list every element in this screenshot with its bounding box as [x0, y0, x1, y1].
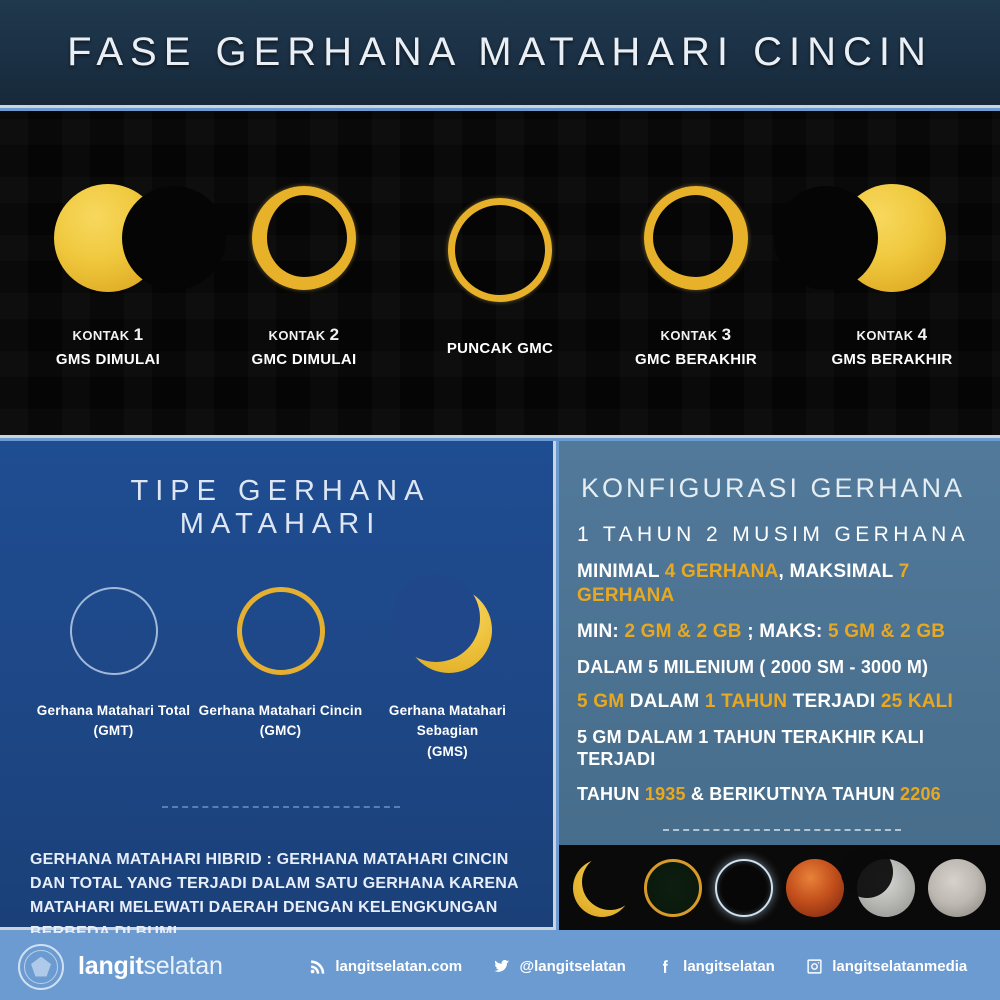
total-corona-photo	[715, 859, 773, 917]
social-instagram[interactable]: langitselatanmedia	[804, 957, 967, 977]
eclipse-phases-section: KONTAK 1 GMS DIMULAI KONTAK 2 GMC DIMULA…	[0, 111, 1000, 438]
social-twitter[interactable]: @langitselatan	[491, 957, 625, 977]
gold-value: 2 GM & 2 GB	[624, 621, 741, 642]
gold-value: 5 GM	[577, 691, 624, 712]
text-part: TAHUN	[577, 784, 645, 804]
phase-item: KONTAK 1 GMS DIMULAI	[16, 178, 201, 370]
phase-sublabel: GMC DIMULAI	[252, 350, 357, 370]
type-abbr: (GMS)	[427, 744, 468, 759]
phase-kontak-label: KONTAK	[269, 328, 326, 343]
full-moon-photo	[928, 859, 986, 917]
social-website[interactable]: langitselatan.com	[307, 957, 462, 977]
type-name: Gerhana Matahari Cincin	[199, 703, 363, 718]
eclipse-types-panel: TIPE GERHANA MATAHARI Gerhana Matahari T…	[0, 441, 556, 930]
ring-offset-left-icon	[244, 178, 364, 298]
header-banner: FASE GERHANA MATAHARI CINCIN	[0, 0, 1000, 108]
config-line-min-max-eclipses: MINIMAL 4 GERHANA, MAKSIMAL 7 GERHANA	[577, 560, 986, 608]
type-name: Gerhana Matahari Total	[37, 703, 190, 718]
annular-crescent-photo	[573, 859, 631, 917]
phase-kontak-label: KONTAK	[661, 328, 718, 343]
text-part: ; MAKS:	[742, 621, 828, 642]
type-name: Gerhana Matahari Sebagian	[389, 703, 506, 738]
rss-icon	[307, 957, 327, 977]
instagram-icon	[804, 957, 824, 977]
config-line-5gm-frequency: 5 GM DALAM 1 TAHUN TERJADI 25 KALI	[577, 690, 986, 714]
config-line-min-max-types: MIN: 2 GM & 2 GB ; MAKS: 5 GM & 2 GB	[577, 620, 986, 644]
config-line-millennium: DALAM 5 MILENIUM ( 2000 SM - 3000 M)	[577, 656, 986, 679]
phase-number: 2	[330, 325, 340, 344]
type-abbr: (GMC)	[260, 723, 302, 738]
sun-bite-right-icon	[48, 178, 168, 298]
sun-bite-left-icon	[832, 178, 952, 298]
gold-value: 25 KALI	[881, 691, 953, 712]
gold-value: 1 TAHUN	[705, 691, 787, 712]
config-line-last-occurrence: 5 GM DALAM 1 TAHUN TERAKHIR KALI TERJADI	[577, 726, 986, 771]
phase-item: KONTAK 4 GMS BERAKHIR	[800, 178, 985, 370]
config-line-seasons: 1 TAHUN 2 MUSIM GERHANA	[577, 522, 986, 548]
type-item-gmc: Gerhana Matahari Cincin (GMC)	[198, 583, 363, 762]
annular-ring-photo	[644, 859, 702, 917]
gold-value: 4 GERHANA	[665, 561, 779, 582]
social-facebook[interactable]: langitselatan	[655, 957, 775, 977]
brand-light: selatan	[143, 952, 222, 980]
phase-item: KONTAK 2 GMC DIMULAI	[212, 178, 397, 370]
ring-offset-right-icon	[636, 178, 756, 298]
social-label: langitselatan.com	[335, 958, 462, 975]
divider	[663, 829, 901, 831]
config-panel-title: KONFIGURASI GERHANA	[581, 473, 986, 504]
langitselatan-seal-logo	[18, 944, 64, 990]
text-part: & BERIKUTNYA TAHUN	[686, 784, 900, 804]
types-panel-title: TIPE GERHANA MATAHARI	[30, 475, 531, 541]
phase-sublabel: GMS DIMULAI	[56, 350, 160, 370]
hybrid-description: GERHANA MATAHARI HIBRID : GERHANA MATAHA…	[30, 848, 531, 945]
gold-value: 1935	[645, 784, 686, 804]
phase-kontak-label: KONTAK	[857, 328, 914, 343]
ring-gold-icon	[233, 583, 329, 679]
twitter-icon	[491, 957, 511, 977]
ring-thin-icon	[440, 190, 560, 310]
phase-sublabel: GMS BERAKHIR	[831, 350, 952, 370]
social-label: @langitselatan	[519, 958, 625, 975]
text-part: TERJADI	[787, 691, 881, 712]
config-line-years: TAHUN 1935 & BERIKUTNYA TAHUN 2206	[577, 783, 986, 806]
phase-item: KONTAK 3 GMC BERAKHIR	[604, 178, 789, 370]
type-abbr: (GMT)	[94, 723, 134, 738]
text-part: MIN:	[577, 621, 624, 642]
divider	[162, 806, 400, 808]
phase-item: PUNCAK GMC	[408, 190, 593, 359]
type-item-gmt: Gerhana Matahari Total (GMT)	[31, 583, 196, 762]
phase-number: 1	[134, 325, 144, 344]
infographic-page: FASE GERHANA MATAHARI CINCIN KONTAK 1 GM…	[0, 0, 1000, 1000]
social-label: langitselatan	[683, 958, 775, 975]
facebook-icon	[655, 957, 675, 977]
eclipse-photo-strip	[559, 845, 1000, 930]
page-title: FASE GERHANA MATAHARI CINCIN	[67, 30, 933, 75]
ring-white-icon	[66, 583, 162, 679]
blood-moon-photo	[786, 859, 844, 917]
phase-number: 3	[722, 325, 732, 344]
phase-kontak-label: KONTAK	[73, 328, 130, 343]
type-item-gms: Gerhana Matahari Sebagian (GMS)	[365, 583, 530, 762]
text-part: DALAM	[624, 691, 705, 712]
phase-sublabel: GMC BERAKHIR	[635, 350, 757, 370]
text-part: , MAKSIMAL	[779, 561, 899, 582]
gold-value: 2206	[900, 784, 941, 804]
social-label: langitselatanmedia	[832, 958, 967, 975]
brand-wordmark: langitselatan	[78, 952, 223, 981]
crescent-gold-icon	[400, 583, 496, 679]
partial-lunar-photo	[857, 859, 915, 917]
gold-value: 5 GM & 2 GB	[828, 621, 945, 642]
brand-bold: langit	[78, 952, 143, 980]
text-part: MINIMAL	[577, 561, 665, 582]
footer-bar: langitselatan langitselatan.com @langits…	[0, 933, 1000, 1000]
phase-kontak-label: PUNCAK GMC	[447, 339, 553, 359]
phase-number: 4	[918, 325, 928, 344]
